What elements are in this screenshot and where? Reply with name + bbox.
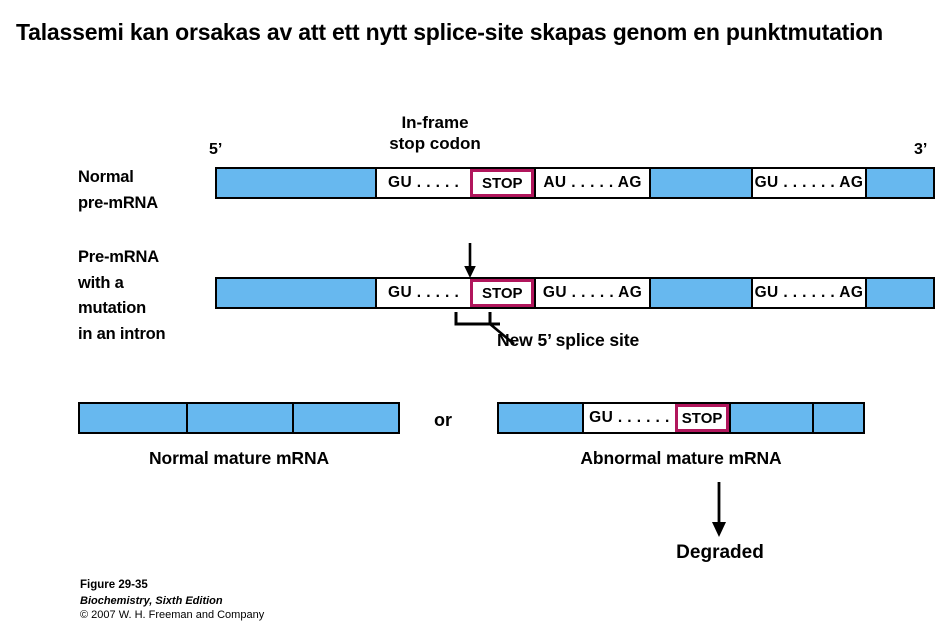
row-label-mutant-pre-mrna: Pre-mRNA with a mutation in an intron [78,245,165,347]
normal-pre-mrna-segment-intron-3: AU . . . . . AG [534,169,649,197]
mutant-pre-mrna-segment-intron-3: GU . . . . . AG [534,279,649,307]
normal-mature-mrna-segment-exon-0 [80,404,186,432]
abnormal-mature-mrna-segment-intron-1: GU . . . . . . [582,404,675,432]
abnormal-mature-mrna-caption: Abnormal mature mRNA [497,448,865,469]
inframe-caption-line-2: stop codon [330,133,540,154]
normal-pre-mrna-segment-intron-5: GU . . . . . . AG [751,169,866,197]
normal-mature-mrna-bar [78,402,400,434]
mutant-pre-mrna-segment-intron-5: GU . . . . . . AG [751,279,866,307]
normal-pre-mrna-segment-exon-0 [217,169,375,197]
book-title: Biochemistry, Sixth Edition [80,594,264,609]
mutant-pre-mrna-bar: GU . . . . .STOPGU . . . . . AGGU . . . … [215,277,935,309]
degraded-label: Degraded [620,542,820,564]
page-title: Talassemi kan orsakas av att ett nytt sp… [16,18,916,48]
mutant-pre-mrna-segment-exon-4 [649,279,751,307]
copyright-notice: © 2007 W. H. Freeman and Company [80,608,264,624]
row-label-line: with a [78,271,165,297]
normal-pre-mrna-segment-intron-1: GU . . . . . [375,169,470,197]
abnormal-mature-mrna-segment-exon-3 [729,404,812,432]
abnormal-mature-mrna-bar: GU . . . . . .STOP [497,402,865,434]
normal-mature-mrna-caption: Normal mature mRNA [78,448,400,469]
abnormal-mature-mrna-segment-exon-0 [499,404,582,432]
row-label-line: in an intron [78,322,165,348]
degradation-arrow-icon [702,482,736,538]
new-splice-site-label: New 5’ splice site [497,330,639,351]
normal-pre-mrna-segment-exon-6 [865,169,933,197]
row-label-line: mutation [78,296,165,322]
five-prime-marker: 5’ [209,141,222,159]
normal-mature-mrna-segment-exon-2 [292,404,398,432]
row-label-line: pre-mRNA [78,191,158,217]
mutant-pre-mrna-segment-stop-codon-2: STOP [470,279,534,307]
mutant-pre-mrna-segment-intron-1: GU . . . . . [375,279,470,307]
normal-pre-mrna-segment-stop-codon-2: STOP [470,169,534,197]
row-label-line: Pre-mRNA [78,245,165,271]
row-label-line: Normal [78,165,158,191]
figure-canvas: Talassemi kan orsakas av att ett nytt sp… [0,0,948,638]
three-prime-marker: 3’ [914,141,927,159]
figure-number: Figure 29-35 [80,578,264,594]
inframe-caption-line-1: In-frame [330,112,540,133]
normal-pre-mrna-segment-exon-4 [649,169,751,197]
normal-pre-mrna-bar: GU . . . . .STOPAU . . . . . AGGU . . . … [215,167,935,199]
or-separator-label: or [434,410,452,431]
row-label-normal-pre-mrna: Normal pre-mRNA [78,165,158,216]
mutant-pre-mrna-segment-exon-6 [865,279,933,307]
figure-credit: Figure 29-35 Biochemistry, Sixth Edition… [80,578,264,624]
abnormal-mature-mrna-segment-stop-codon-2: STOP [675,404,730,432]
normal-mature-mrna-segment-exon-1 [186,404,292,432]
abnormal-mature-mrna-segment-exon-4 [812,404,863,432]
mutant-pre-mrna-segment-exon-0 [217,279,375,307]
mutation-point-arrow-icon [455,243,485,279]
inframe-stop-codon-caption: In-frame stop codon [330,112,540,155]
